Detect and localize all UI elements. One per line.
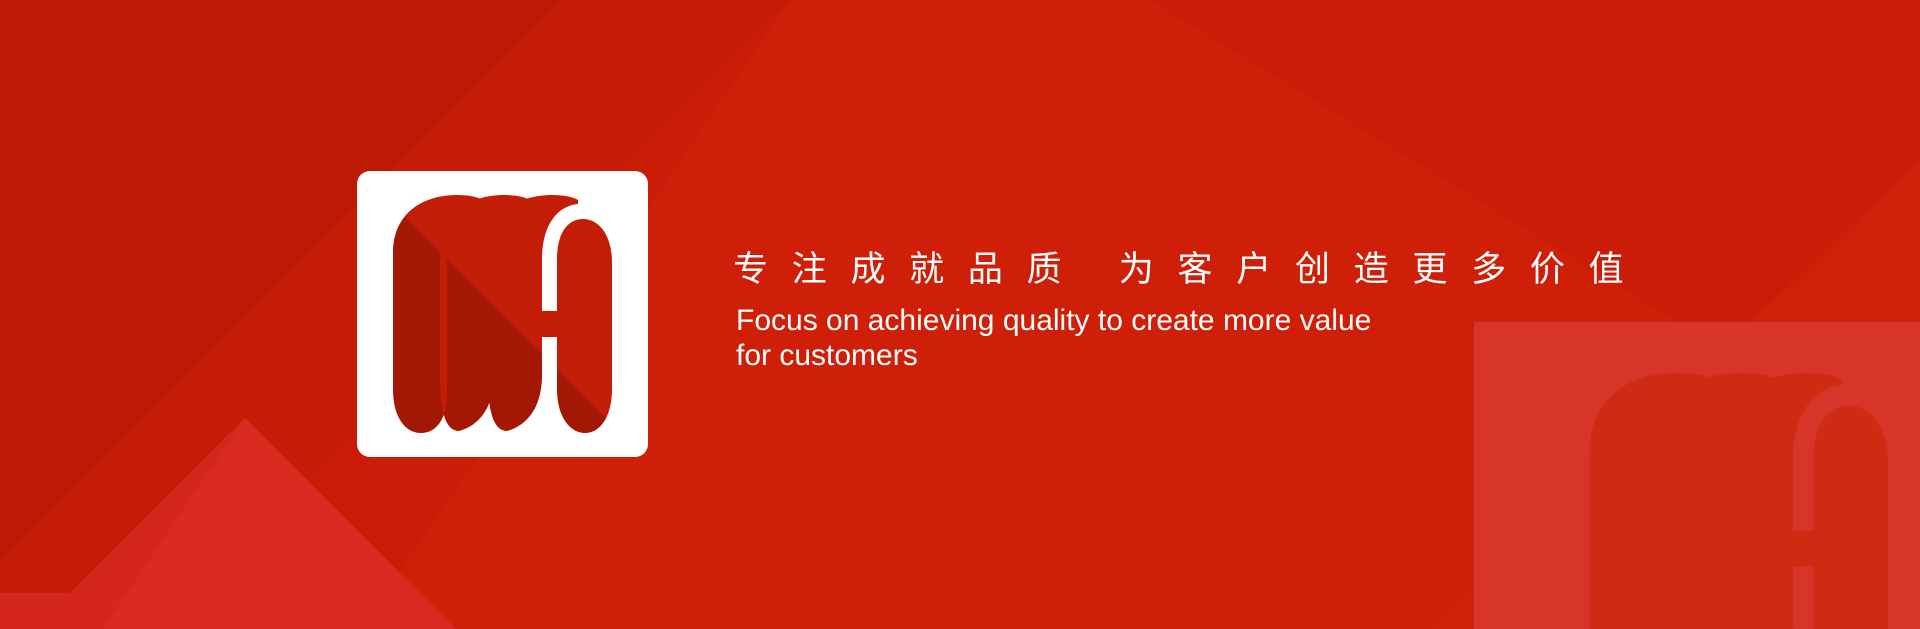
promo-banner: 专 注 成 就 品 质 为 客 户 创 造 更 多 价 值 Focus on a… [0, 0, 1920, 629]
tagline-english: Focus on achieving quality to create mor… [736, 303, 1376, 373]
tagline-block: 专 注 成 就 品 质 为 客 户 创 造 更 多 价 值 Focus on a… [733, 247, 1733, 373]
background-chevron-echo [0, 418, 245, 629]
watermark-glyph [1590, 373, 1889, 629]
company-logo-svg [381, 193, 624, 435]
logo-watermark-mark [1524, 370, 1920, 629]
company-logo-mark [381, 193, 624, 435]
logo-watermark-svg [1524, 370, 1920, 629]
tagline-chinese: 专 注 成 就 品 质 为 客 户 创 造 更 多 价 值 [733, 247, 1733, 293]
company-logo-tile [357, 171, 648, 457]
